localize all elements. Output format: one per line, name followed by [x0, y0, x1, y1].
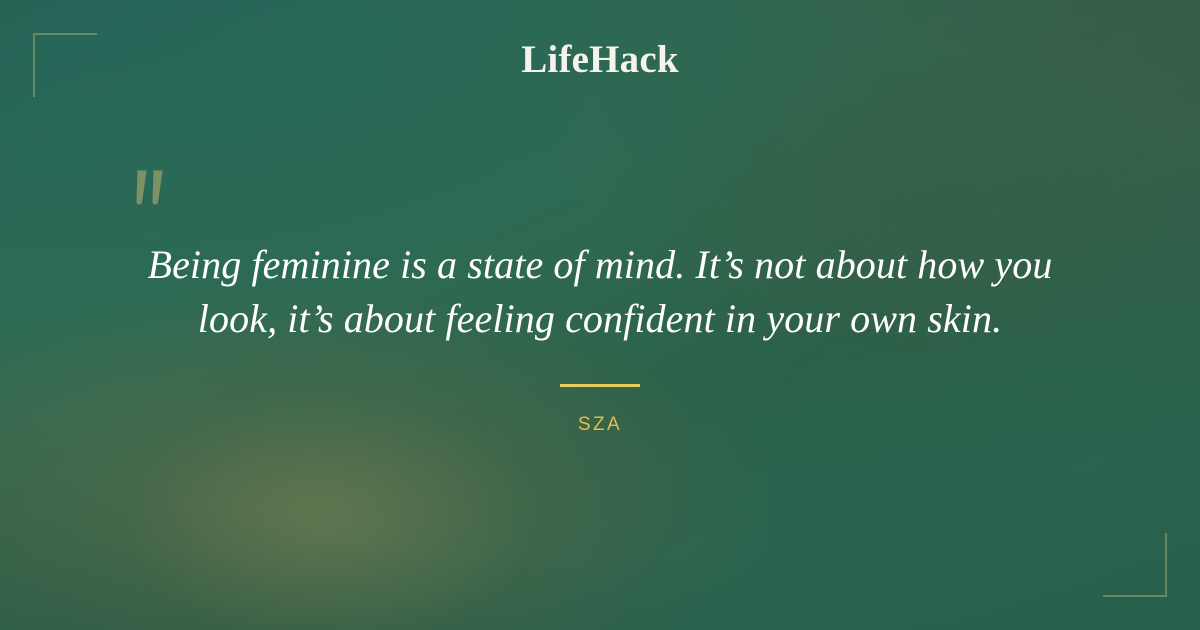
double-quote-icon [133, 168, 173, 216]
attribution-divider [560, 384, 640, 387]
quote-line-2: look, it’s about feeling confident in yo… [100, 292, 1100, 346]
attribution: SZA [0, 414, 1200, 436]
author-name: SZA [578, 414, 622, 435]
brand-name: LifeHack [521, 38, 679, 81]
quote-container: Being feminine is a state of mind. It’s … [100, 238, 1100, 346]
quote-card: LifeHack Being feminine is a state of mi… [0, 0, 1200, 630]
quote-line-1: Being feminine is a state of mind. It’s … [100, 238, 1100, 292]
brand-logo: LifeHack [0, 40, 1200, 79]
